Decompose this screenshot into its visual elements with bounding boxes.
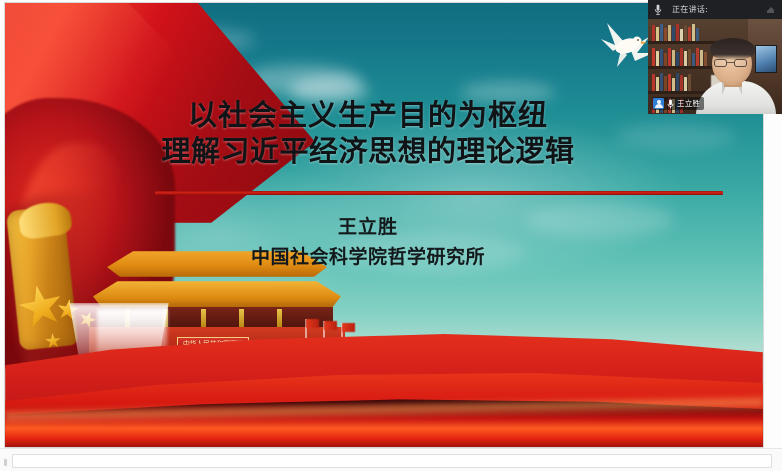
mini-flag-icon	[306, 319, 319, 328]
monitor-screen	[755, 45, 777, 73]
eyeglasses-right-lens	[734, 59, 747, 67]
speaker-name-label: 王立胜	[677, 98, 700, 109]
screen-share-window: 中华人民共和国万岁	[0, 0, 782, 471]
slide-title-line-2: 理解习近平经济思想的理论逻辑	[5, 133, 731, 169]
speaking-status-label: 正在讲话:	[672, 4, 708, 15]
gate-column	[239, 309, 244, 329]
eyeglasses-left-lens	[714, 59, 727, 67]
title-divider-rule	[155, 191, 723, 195]
slide-author: 王立胜	[5, 213, 731, 241]
bottom-toolbar	[0, 448, 782, 471]
more-options-icon[interactable]	[766, 5, 775, 14]
speaker-nameplate: 王立胜	[652, 97, 704, 110]
gate-column	[201, 309, 206, 329]
video-conference-panel[interactable]: 正在讲话:	[648, 0, 782, 114]
toolbar-input-field[interactable]	[12, 454, 772, 468]
user-avatar-icon	[653, 98, 664, 109]
gate-column	[277, 309, 282, 329]
book-row	[652, 23, 712, 41]
slide-title: 以社会主义生产目的为枢纽 理解习近平经济思想的理论逻辑	[5, 97, 731, 169]
microphone-icon	[654, 4, 662, 15]
slide-affiliation: 中国社会科学院哲学研究所	[5, 243, 731, 271]
speaker-hair	[710, 38, 755, 60]
microphone-icon	[667, 99, 674, 109]
mini-flag-icon	[324, 321, 337, 330]
toolbar-handle[interactable]	[4, 459, 7, 466]
toolbar-divider	[0, 448, 782, 449]
book-row	[652, 72, 714, 91]
video-panel-header: 正在讲话:	[648, 0, 782, 19]
speaker-video-feed[interactable]: 王立胜	[648, 19, 782, 114]
eyeglasses-bridge	[727, 62, 734, 63]
mini-flag-icon	[342, 323, 355, 332]
slide-title-line-1: 以社会主义生产目的为枢纽	[5, 97, 731, 133]
